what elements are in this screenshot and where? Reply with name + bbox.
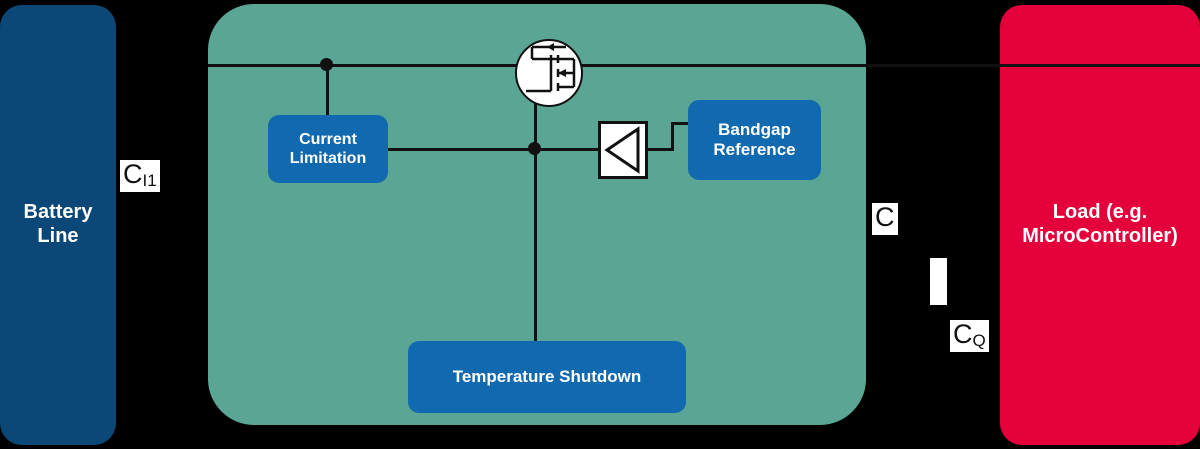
- bandgap-reference-label: Bandgap Reference: [713, 120, 795, 161]
- input-capacitor-base: C: [123, 159, 143, 189]
- current-limitation-block[interactable]: Current Limitation: [268, 115, 388, 183]
- capacitor-plate-icon: [930, 258, 947, 305]
- current-limitation-label-line1: Current: [290, 130, 366, 149]
- load-label-line2: MicroController): [1022, 225, 1178, 249]
- bandgap-reference-block[interactable]: Bandgap Reference: [688, 100, 821, 180]
- output-capacitor-base: C: [875, 202, 895, 232]
- wire-current-limitation-stub: [326, 64, 329, 120]
- battery-line-label-line1: Battery: [24, 201, 93, 225]
- junction-dot-feedback: [528, 142, 541, 155]
- load-label-line1: Load (e.g.: [1022, 201, 1178, 225]
- quiescent-capacitor-label: CQ: [950, 320, 989, 352]
- amplifier-icon: [598, 121, 648, 179]
- wire-amp-to-bandgap-vertical: [671, 122, 674, 151]
- battery-line-block[interactable]: Battery Line: [0, 5, 116, 445]
- wire-amp-to-bandgap-horizontal: [644, 148, 674, 151]
- quiescent-capacitor-base: C: [953, 319, 973, 349]
- input-capacitor-label: CI1: [120, 160, 160, 192]
- current-limitation-label: Current Limitation: [290, 130, 366, 168]
- mosfet-icon: [514, 38, 584, 108]
- load-label: Load (e.g. MicroController): [1022, 201, 1178, 248]
- input-capacitor-subscript: I1: [143, 171, 157, 190]
- battery-line-label: Battery Line: [24, 201, 93, 248]
- load-block[interactable]: Load (e.g. MicroController): [1000, 5, 1200, 445]
- wire-temperature-shutdown-vertical: [534, 148, 537, 348]
- junction-dot-current-limitation: [320, 58, 333, 71]
- wire-feedback-horizontal: [386, 148, 604, 151]
- battery-line-label-line2: Line: [24, 225, 93, 249]
- current-limitation-label-line2: Limitation: [290, 149, 366, 168]
- output-capacitor-label: C: [872, 203, 898, 235]
- temperature-shutdown-block[interactable]: Temperature Shutdown: [408, 341, 686, 413]
- quiescent-capacitor-subscript: Q: [973, 331, 986, 350]
- diagram-canvas: Battery Line: [0, 0, 1200, 449]
- temperature-shutdown-label: Temperature Shutdown: [453, 367, 642, 387]
- bandgap-reference-label-line1: Bandgap: [713, 120, 795, 140]
- wire-supply-rail-horizontal: [208, 64, 1200, 67]
- bandgap-reference-label-line2: Reference: [713, 140, 795, 160]
